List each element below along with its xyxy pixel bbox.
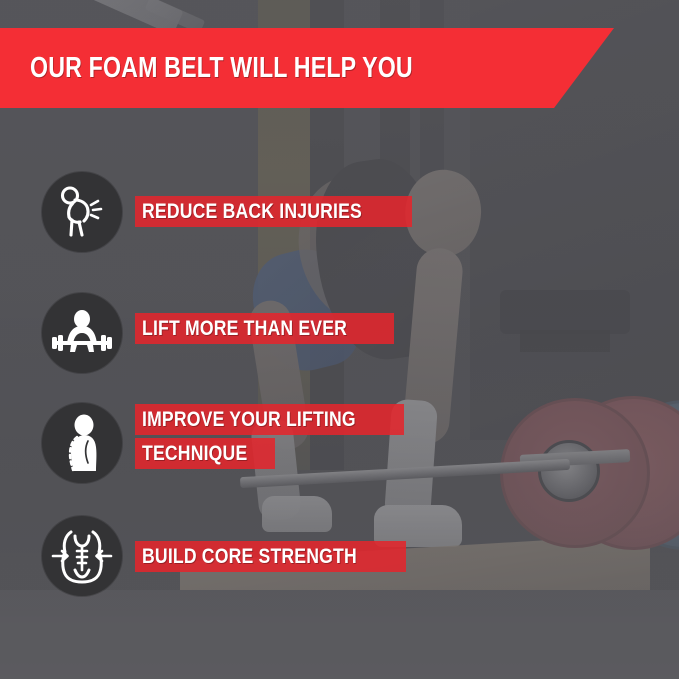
infographic-canvas: OUR FOAM BELT WILL HELP YOU (0, 0, 679, 679)
feature-label-text: LIFT MORE THAN EVER (142, 313, 347, 344)
feature-label-text: TECHNIQUE (142, 438, 247, 469)
feature-label: REDUCE BACK INJURIES (135, 196, 412, 227)
feature-label-group-2: LIFT MORE THAN EVER (135, 313, 394, 344)
feature-label: LIFT MORE THAN EVER (135, 313, 394, 344)
feature-label-second-line: TECHNIQUE (135, 438, 275, 469)
spine-posture-icon (42, 403, 122, 483)
feature-label-text: IMPROVE YOUR LIFTING (142, 404, 356, 435)
feature-list: REDUCE BACK INJURIES (0, 0, 679, 679)
feature-label: IMPROVE YOUR LIFTING (135, 404, 404, 435)
feature-label-text: REDUCE BACK INJURIES (142, 196, 362, 227)
feature-label-group-1: REDUCE BACK INJURIES (135, 196, 412, 227)
feature-label-group-4: BUILD CORE STRENGTH (135, 541, 406, 572)
feature-label-text: BUILD CORE STRENGTH (142, 541, 357, 572)
core-torso-icon (42, 516, 122, 596)
back-pain-icon (42, 172, 122, 252)
feature-label: BUILD CORE STRENGTH (135, 541, 406, 572)
deadlift-icon (42, 293, 122, 373)
feature-label-group-3: IMPROVE YOUR LIFTING TECHNIQUE (135, 404, 404, 469)
